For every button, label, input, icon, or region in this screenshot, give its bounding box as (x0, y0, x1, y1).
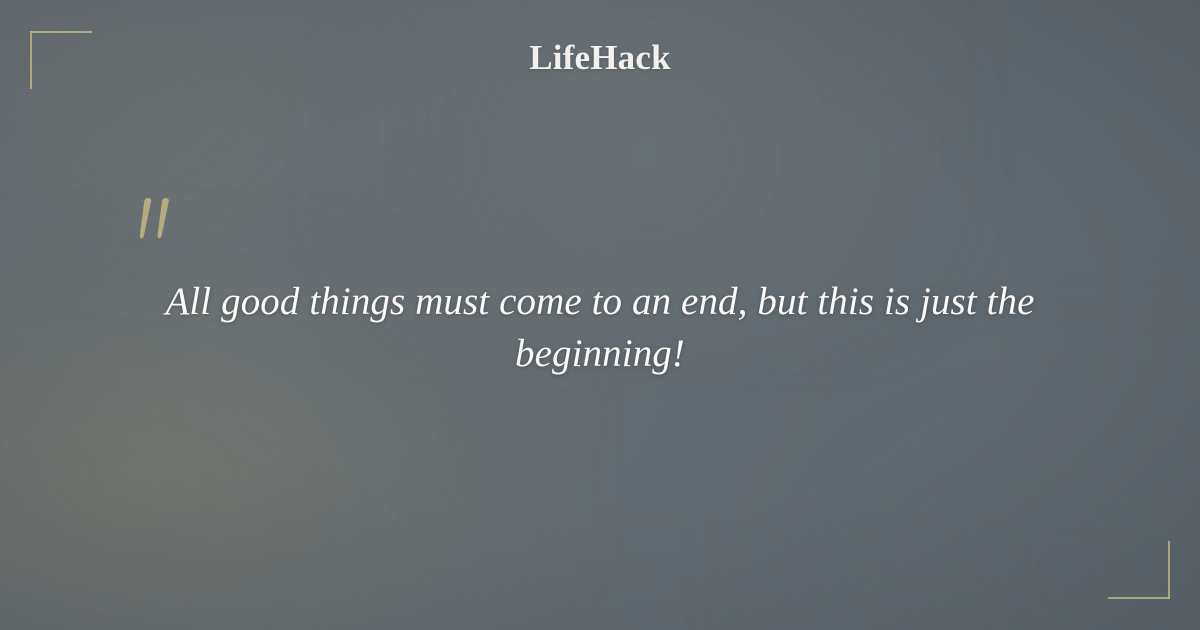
quote-card: LifeHack All good things must come to an… (0, 0, 1200, 630)
quotation-mark-icon (134, 196, 180, 244)
quote-text: All good things must come to an end, but… (130, 276, 1070, 380)
brand-logo: LifeHack (0, 40, 1200, 75)
quote-block: All good things must come to an end, but… (130, 196, 1070, 380)
